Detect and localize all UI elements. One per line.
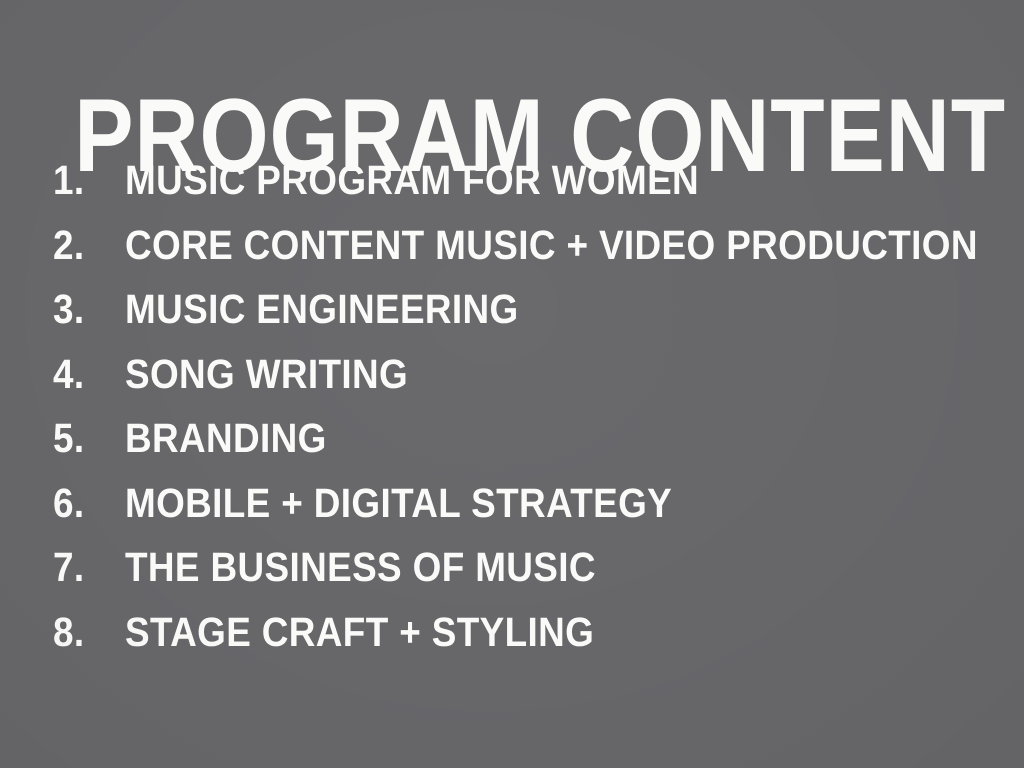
list-item-number: 2.	[53, 225, 116, 266]
list-item-label: STAGE CRAFT + STYLING	[125, 612, 594, 653]
list-item-number: 6.	[53, 483, 116, 524]
presentation-slide: PROGRAM CONTENT 1. MUSIC PROGRAM FOR WOM…	[0, 0, 1024, 768]
list-item-label: MUSIC PROGRAM FOR WOMEN	[125, 160, 699, 201]
list-item: 6. MOBILE + DIGITAL STRATEGY	[0, 483, 1024, 548]
list-item-number: 4.	[53, 354, 116, 395]
list-item: 4. SONG WRITING	[0, 354, 1024, 419]
list-item-label: SONG WRITING	[125, 354, 408, 395]
list-item: 7. THE BUSINESS OF MUSIC	[0, 547, 1024, 612]
list-item: 1. MUSIC PROGRAM FOR WOMEN	[0, 160, 1024, 225]
list-item-number: 1.	[53, 160, 116, 201]
program-content-list: 1. MUSIC PROGRAM FOR WOMEN 2. CORE CONTE…	[0, 160, 1024, 676]
list-item-number: 7.	[53, 547, 116, 588]
list-item-number: 5.	[53, 418, 116, 459]
list-item-label: BRANDING	[125, 418, 327, 459]
list-item-label: MUSIC ENGINEERING	[125, 289, 519, 330]
list-item-label: MOBILE + DIGITAL STRATEGY	[125, 483, 672, 524]
list-item: 3. MUSIC ENGINEERING	[0, 289, 1024, 354]
list-item: 8. STAGE CRAFT + STYLING	[0, 612, 1024, 677]
list-item: 2. CORE CONTENT MUSIC + VIDEO PRODUCTION	[0, 225, 1024, 290]
list-item-label: CORE CONTENT MUSIC + VIDEO PRODUCTION	[125, 225, 978, 266]
list-item: 5. BRANDING	[0, 418, 1024, 483]
list-item-number: 3.	[53, 289, 116, 330]
list-item-number: 8.	[53, 612, 116, 653]
list-item-label: THE BUSINESS OF MUSIC	[125, 547, 596, 588]
